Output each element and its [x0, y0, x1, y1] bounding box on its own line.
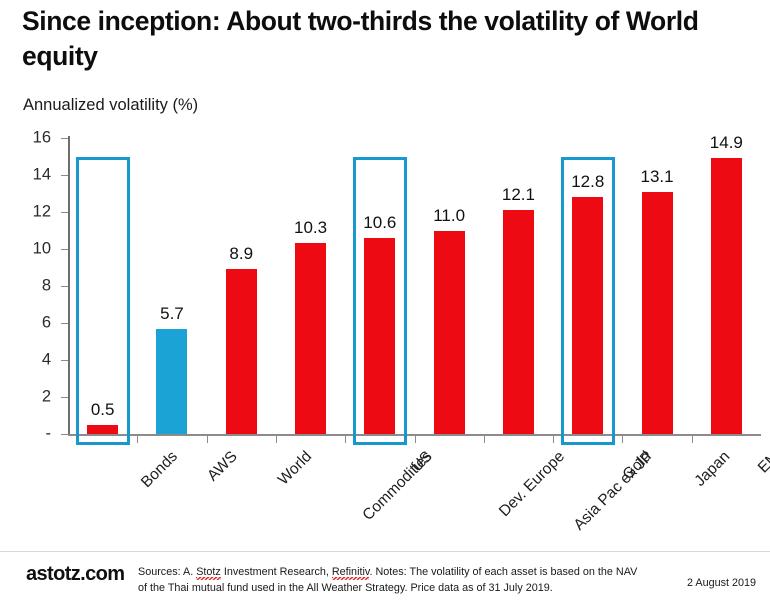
y-axis-tick-label: 2: [11, 388, 51, 407]
bar-asia-pac-ex-jp[interactable]: [503, 210, 534, 434]
brand-logo: astotz.com: [26, 563, 124, 586]
bar-value-label: 11.0: [404, 206, 494, 226]
bar-chart-plot-area: -2468101214160.5Bonds5.7AWS8.9World10.3C…: [0, 0, 770, 606]
source-name-stotz: Stotz: [196, 566, 221, 580]
x-axis-tick-mark: [345, 435, 346, 443]
x-axis-tick-mark: [137, 435, 138, 443]
y-axis-tick-mark: [61, 286, 68, 287]
publication-date: 2 August 2019: [687, 577, 756, 589]
y-axis-line: [68, 136, 70, 434]
bar-value-label: 5.7: [127, 304, 217, 324]
bar-gold[interactable]: [572, 197, 603, 434]
x-axis-tick-mark: [276, 435, 277, 443]
y-axis-tick-label: 14: [11, 166, 51, 185]
x-axis-tick-mark: [622, 435, 623, 443]
y-axis-tick-mark: [61, 249, 68, 250]
bar-dev-europe[interactable]: [434, 231, 465, 435]
y-axis-tick-mark: [61, 175, 68, 176]
y-axis-tick-mark: [61, 434, 68, 435]
y-axis-tick-mark: [61, 212, 68, 213]
x-axis-tick-mark: [692, 435, 693, 443]
x-axis-label-japan: Japan: [691, 448, 734, 491]
y-axis-tick-mark: [61, 397, 68, 398]
y-axis-tick-mark: [61, 138, 68, 139]
footer-divider: [0, 551, 770, 552]
chart-page: Since inception: About two-thirds the vo…: [0, 0, 770, 606]
x-axis-label-bonds: Bonds: [138, 448, 182, 492]
y-axis-tick-label: 6: [11, 314, 51, 333]
y-axis-tick-label: 16: [11, 129, 51, 148]
x-axis-label-dev-europe: Dev. Europe: [496, 448, 569, 521]
bar-aws[interactable]: [156, 329, 187, 434]
x-axis-tick-mark: [553, 435, 554, 443]
source-mid: Investment Research,: [221, 566, 332, 578]
bar-bonds[interactable]: [87, 425, 118, 434]
bar-world[interactable]: [226, 269, 257, 434]
source-note: Sources: A. Stotz Investment Research, R…: [138, 565, 643, 597]
x-axis-label-world: World: [275, 448, 316, 489]
x-axis-label-aws: AWS: [204, 448, 241, 485]
x-axis-tick-mark: [207, 435, 208, 443]
bar-value-label: 14.9: [681, 133, 770, 153]
y-axis-tick-label: -: [11, 425, 51, 444]
y-axis-tick-label: 4: [11, 351, 51, 370]
y-axis-tick-label: 12: [11, 203, 51, 222]
bar-us[interactable]: [364, 238, 395, 434]
y-axis-tick-label: 10: [11, 240, 51, 259]
x-axis-tick-mark: [415, 435, 416, 443]
x-axis-tick-mark: [484, 435, 485, 443]
y-axis-tick-label: 8: [11, 277, 51, 296]
bar-value-label: 0.5: [58, 400, 148, 420]
bar-value-label: 13.1: [612, 167, 702, 187]
source-prefix: Sources: A.: [138, 566, 196, 578]
bar-commodities[interactable]: [295, 243, 326, 434]
x-axis-label-em: EM: [755, 448, 770, 477]
y-axis-tick-mark: [61, 360, 68, 361]
bar-value-label: 8.9: [196, 244, 286, 264]
bar-japan[interactable]: [642, 192, 673, 434]
source-name-refinitiv: Refinitiv: [332, 566, 370, 580]
y-axis-tick-mark: [61, 323, 68, 324]
bar-em[interactable]: [711, 158, 742, 434]
